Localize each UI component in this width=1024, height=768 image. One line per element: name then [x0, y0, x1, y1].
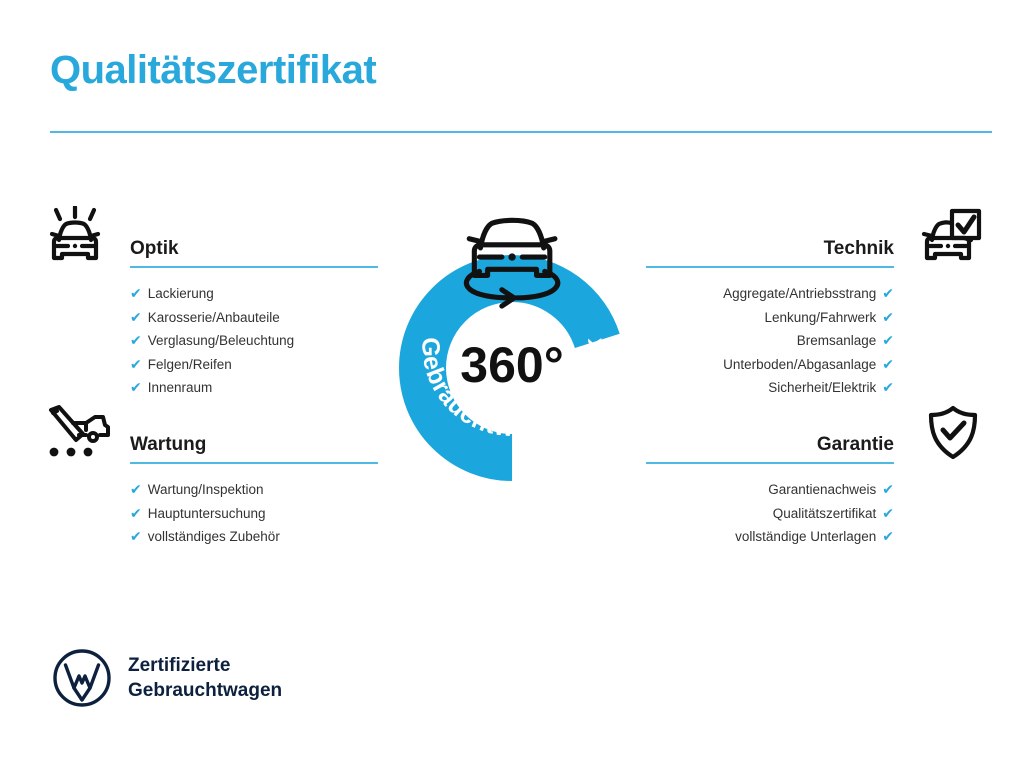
car-checkbox-icon [916, 208, 982, 266]
section-underline [130, 462, 378, 464]
check-icon: ✔ [130, 309, 142, 325]
check-icon: ✔ [130, 285, 142, 301]
list-item-label: Innenraum [148, 380, 213, 395]
check-icon: ✔ [130, 505, 142, 521]
check-icon: ✔ [882, 505, 894, 521]
section-title: Technik [824, 238, 894, 260]
vw-logo-line1: Zertifizierte [128, 653, 282, 678]
list-item-label: vollständiges Zubehör [148, 529, 280, 544]
check-icon: ✔ [130, 379, 142, 395]
list-item: ✔Hauptuntersuchung [130, 502, 462, 526]
360-check-badge: Gebrauchtwagen-Check 360° [378, 196, 646, 492]
list-item-label: Wartung/Inspektion [148, 482, 264, 497]
section-underline [646, 266, 894, 268]
list-item-label: Bremsanlage [797, 333, 877, 348]
list-item-label: Aggregate/Antriebsstrang [723, 286, 876, 301]
list-item-label: Lackierung [148, 286, 214, 301]
vw-logo-text: Zertifizierte Gebrauchtwagen [128, 653, 282, 703]
page-title: Qualitätszertifikat [50, 48, 376, 92]
list-item-label: Felgen/Reifen [148, 357, 232, 372]
list-item-label: vollständige Unterlagen [735, 529, 876, 544]
list-item-label: Verglasung/Beleuchtung [148, 333, 294, 348]
list-item-label: Karosserie/Anbauteile [148, 310, 280, 325]
vw-logo-line2: Gebrauchtwagen [128, 678, 282, 703]
title-divider [50, 131, 992, 133]
section-title: Optik [130, 238, 179, 260]
list-item-label: Unterboden/Abgasanlage [723, 357, 876, 372]
vw-logo-icon [52, 648, 112, 708]
shield-check-icon [924, 404, 982, 462]
list-item: ✔vollständiges Zubehör [130, 525, 462, 549]
check-icon: ✔ [130, 528, 142, 544]
list-item-label: Garantienachweis [768, 482, 876, 497]
list-item: vollständige Unterlagen✔ [562, 525, 894, 549]
check-icon: ✔ [882, 309, 894, 325]
check-icon: ✔ [882, 481, 894, 497]
check-icon: ✔ [882, 356, 894, 372]
vw-certified-logo: Zertifizierte Gebrauchtwagen [52, 648, 282, 708]
check-icon: ✔ [130, 332, 142, 348]
list-item-label: Hauptuntersuchung [148, 506, 266, 521]
car-shine-icon [42, 206, 108, 266]
check-icon: ✔ [882, 285, 894, 301]
list-item-label: Lenkung/Fahrwerk [764, 310, 876, 325]
car-service-pencil-icon [42, 404, 114, 462]
list-item: Qualitätszertifikat✔ [562, 502, 894, 526]
list-item-label: Qualitätszertifikat [773, 506, 877, 521]
check-icon: ✔ [882, 528, 894, 544]
certificate-page: Qualitätszertifikat [0, 0, 1024, 768]
section-underline [130, 266, 378, 268]
section-title: Garantie [817, 434, 894, 456]
section-title: Wartung [130, 434, 206, 456]
list-item-label: Sicherheit/Elektrik [768, 380, 876, 395]
section-underline [646, 462, 894, 464]
check-icon: ✔ [130, 481, 142, 497]
check-icon: ✔ [130, 356, 142, 372]
check-icon: ✔ [882, 379, 894, 395]
badge-center-label: 360° [460, 337, 563, 393]
check-icon: ✔ [882, 332, 894, 348]
